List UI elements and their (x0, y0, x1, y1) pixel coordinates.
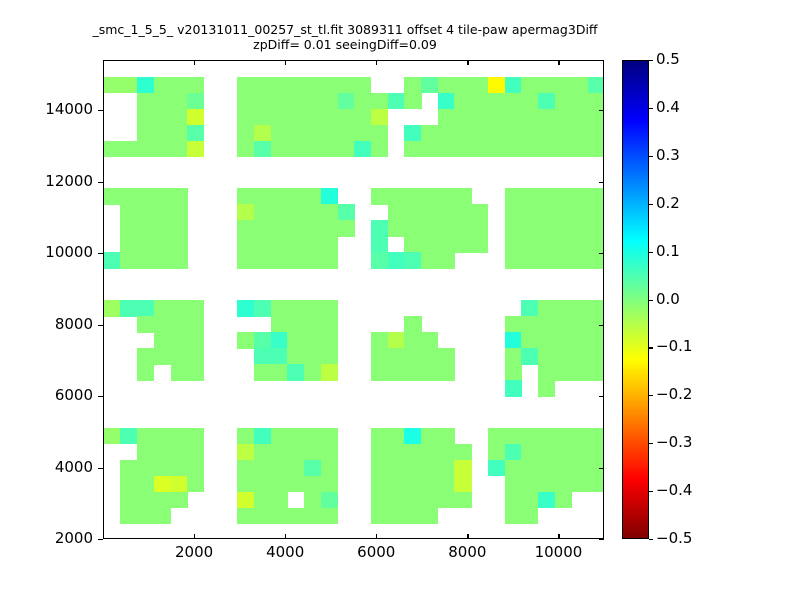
heatmap-cell (521, 428, 538, 445)
heatmap-cell (388, 204, 405, 221)
x-axis-tick (467, 534, 468, 539)
heatmap-cell (571, 428, 588, 445)
heatmap-cell (171, 220, 188, 237)
heatmap-cell (237, 444, 254, 461)
heatmap-cell (421, 428, 438, 445)
heatmap-cell (571, 93, 588, 110)
heatmap-cell (421, 188, 438, 205)
heatmap-cell (488, 93, 505, 110)
y-axis-tick (98, 182, 103, 183)
colorbar-tick (649, 156, 653, 157)
heatmap-cell (471, 93, 488, 110)
x-axis-tick-label: 6000 (357, 543, 395, 561)
heatmap-cell (237, 188, 254, 205)
heatmap-cell (338, 125, 355, 142)
heatmap-cell (438, 220, 455, 237)
heatmap-cell (171, 332, 188, 349)
heatmap-cell (287, 348, 304, 365)
heatmap-cell (154, 460, 171, 477)
heatmap-cell (488, 428, 505, 445)
heatmap-cell (321, 220, 338, 237)
heatmap-cell (588, 77, 604, 94)
heatmap-cell (555, 125, 572, 142)
heatmap-cell (254, 93, 271, 110)
heatmap-cell (254, 476, 271, 493)
heatmap-cell (154, 125, 171, 142)
heatmap-cell (588, 204, 604, 221)
heatmap-cell (120, 476, 137, 493)
heatmap-cell (421, 204, 438, 221)
heatmap-cell (505, 252, 522, 269)
colorbar-tick (649, 491, 653, 492)
heatmap-cell (404, 316, 421, 333)
heatmap-cell (371, 364, 388, 381)
heatmap-cell (421, 348, 438, 365)
heatmap-cell (354, 125, 371, 142)
heatmap-cell (505, 236, 522, 253)
heatmap-cell (154, 332, 171, 349)
heatmap-cell (571, 300, 588, 317)
heatmap-grid[interactable] (104, 61, 603, 538)
y-axis-tick-right (599, 182, 604, 183)
heatmap-cell (271, 236, 288, 253)
y-axis-tick (98, 468, 103, 469)
heatmap-cell (555, 109, 572, 126)
heatmap-cell (371, 220, 388, 237)
heatmap-cell (571, 109, 588, 126)
heatmap-cell (304, 141, 321, 158)
heatmap-cell (287, 125, 304, 142)
title-line-2: zpDiff= 0.01 seeingDiff=0.09 (0, 37, 690, 52)
plot-title: _smc_1_5_5_ v20131011_00257_st_tl.fit 30… (0, 22, 690, 52)
colorbar-tick (649, 395, 653, 396)
heatmap-cell (538, 332, 555, 349)
heatmap-cell (137, 188, 154, 205)
heatmap-cell (454, 125, 471, 142)
heatmap-cell (271, 508, 288, 525)
heatmap-cell (388, 444, 405, 461)
heatmap-cell (187, 125, 204, 142)
x-axis-tick-label: 10000 (535, 543, 583, 561)
heatmap-cell (187, 109, 204, 126)
heatmap-cell (538, 444, 555, 461)
heatmap-cell (371, 460, 388, 477)
x-axis-tick-label: 2000 (175, 543, 213, 561)
x-axis-tick-label: 8000 (448, 543, 486, 561)
heatmap-cell (137, 428, 154, 445)
heatmap-cell (237, 476, 254, 493)
heatmap-cell (555, 492, 572, 509)
x-axis-tick-top (558, 60, 559, 65)
colorbar[interactable] (622, 60, 649, 539)
heatmap-cell (271, 444, 288, 461)
heatmap-cell (521, 460, 538, 477)
heatmap-cell (338, 93, 355, 110)
heatmap-cell (371, 252, 388, 269)
heatmap-cell (287, 364, 304, 381)
heatmap-cell (571, 204, 588, 221)
y-axis-tick (98, 396, 103, 397)
heatmap-cell (354, 77, 371, 94)
heatmap-cell (271, 109, 288, 126)
heatmap-cell (321, 93, 338, 110)
heatmap-cell (454, 460, 471, 477)
heatmap-cell (354, 141, 371, 158)
heatmap-cell (304, 204, 321, 221)
heatmap-cell (538, 93, 555, 110)
heatmap-cell (371, 109, 388, 126)
heatmap-cell (287, 476, 304, 493)
heatmap-cell (488, 460, 505, 477)
heatmap-cell (171, 125, 188, 142)
x-axis-tick-top (376, 60, 377, 65)
heatmap-cell (505, 428, 522, 445)
heatmap-cell (321, 364, 338, 381)
heatmap-cell (505, 316, 522, 333)
heatmap-cell (287, 220, 304, 237)
heatmap-cell (521, 300, 538, 317)
heatmap-cell (254, 204, 271, 221)
heatmap-cell (388, 428, 405, 445)
heatmap-cell (371, 332, 388, 349)
y-axis-tick-right (599, 110, 604, 111)
heatmap-cell (505, 125, 522, 142)
heatmap-cell (271, 476, 288, 493)
heatmap-cell (438, 236, 455, 253)
heatmap-cell (588, 252, 604, 269)
heatmap-cell (287, 444, 304, 461)
heatmap-cell (505, 460, 522, 477)
heatmap-cell (454, 220, 471, 237)
heatmap-cell (171, 109, 188, 126)
heatmap-cell (421, 141, 438, 158)
heatmap-cell (171, 316, 188, 333)
heatmap-cell (304, 220, 321, 237)
heatmap-cell (404, 125, 421, 142)
heatmap-cell (555, 236, 572, 253)
colorbar-tick (649, 443, 653, 444)
heatmap-cell (371, 444, 388, 461)
heatmap-cell (171, 93, 188, 110)
heatmap-cell (137, 125, 154, 142)
heatmap-cell (287, 460, 304, 477)
heatmap-cell (304, 428, 321, 445)
heatmap-cell (254, 492, 271, 509)
colorbar-tick (649, 347, 653, 348)
heatmap-cell (254, 300, 271, 317)
heatmap-cell (120, 492, 137, 509)
heatmap-cell (154, 252, 171, 269)
heatmap-cell (237, 77, 254, 94)
heatmap-cell (321, 188, 338, 205)
colorbar-tick (649, 252, 653, 253)
heatmap-cell (104, 252, 121, 269)
heatmap-cell (404, 508, 421, 525)
heatmap-cell (438, 428, 455, 445)
heatmap-cell (287, 252, 304, 269)
x-axis-tick (558, 534, 559, 539)
heatmap-cell (588, 93, 604, 110)
heatmap-cell (321, 444, 338, 461)
heatmap-cell (287, 109, 304, 126)
heatmap-cell (338, 77, 355, 94)
heatmap-cell (571, 348, 588, 365)
heatmap-cell (154, 236, 171, 253)
x-axis-tick (376, 534, 377, 539)
heatmap-cell (538, 109, 555, 126)
heatmap-cell (254, 508, 271, 525)
heatmap-cell (321, 460, 338, 477)
heatmap-cell (588, 444, 604, 461)
heatmap-cell (588, 476, 604, 493)
colorbar-tick (649, 539, 653, 540)
heatmap-cell (287, 93, 304, 110)
heatmap-cell (137, 364, 154, 381)
heatmap-cell (438, 188, 455, 205)
heatmap-cell (237, 332, 254, 349)
heatmap-cell (555, 220, 572, 237)
heatmap-cell (521, 252, 538, 269)
heatmap-cell (488, 125, 505, 142)
heatmap-cell (388, 492, 405, 509)
heatmap-cell (304, 93, 321, 110)
heatmap-cell (454, 492, 471, 509)
heatmap-cell (454, 77, 471, 94)
heatmap-cell (388, 188, 405, 205)
heatmap-cell (120, 300, 137, 317)
heatmap-cell (237, 236, 254, 253)
heatmap-cell (555, 476, 572, 493)
heatmap-cell (237, 252, 254, 269)
heatmap-cell (421, 492, 438, 509)
heatmap-cell (287, 141, 304, 158)
heatmap-cell (237, 508, 254, 525)
y-axis-tick-right (599, 325, 604, 326)
heatmap-cell (321, 141, 338, 158)
heatmap-cell (404, 77, 421, 94)
heatmap-cell (471, 125, 488, 142)
heatmap-cell (287, 236, 304, 253)
heatmap-cell (287, 300, 304, 317)
heatmap-cell (304, 188, 321, 205)
heatmap-cell (371, 93, 388, 110)
heatmap-cell (505, 348, 522, 365)
heatmap-cell (120, 428, 137, 445)
heatmap-cell (421, 125, 438, 142)
heatmap-cell (371, 125, 388, 142)
heatmap-cell (404, 332, 421, 349)
y-axis-tick (98, 110, 103, 111)
heatmap-cell (254, 220, 271, 237)
heatmap-cell (454, 444, 471, 461)
heatmap-cell (538, 252, 555, 269)
heatmap-cell (538, 460, 555, 477)
heatmap-cell (521, 204, 538, 221)
heatmap-cell (254, 252, 271, 269)
heatmap-cell (538, 492, 555, 509)
heatmap-cell (137, 476, 154, 493)
plot-axes[interactable] (103, 60, 604, 539)
heatmap-cell (137, 492, 154, 509)
heatmap-cell (171, 252, 188, 269)
heatmap-cell (454, 93, 471, 110)
heatmap-cell (588, 188, 604, 205)
heatmap-cell (538, 77, 555, 94)
heatmap-cell (371, 141, 388, 158)
heatmap-cell (187, 460, 204, 477)
heatmap-cell (488, 141, 505, 158)
heatmap-cell (154, 492, 171, 509)
heatmap-cell (104, 300, 121, 317)
heatmap-cell (421, 476, 438, 493)
heatmap-cell (521, 492, 538, 509)
heatmap-cell (571, 125, 588, 142)
heatmap-cell (538, 316, 555, 333)
heatmap-cell (571, 460, 588, 477)
heatmap-cell (287, 316, 304, 333)
heatmap-cell (171, 204, 188, 221)
heatmap-cell (187, 364, 204, 381)
heatmap-cell (571, 220, 588, 237)
heatmap-cell (505, 77, 522, 94)
heatmap-cell (438, 125, 455, 142)
heatmap-cell (521, 125, 538, 142)
heatmap-cell (421, 364, 438, 381)
heatmap-cell (538, 348, 555, 365)
heatmap-cell (471, 77, 488, 94)
heatmap-cell (421, 444, 438, 461)
heatmap-cell (338, 220, 355, 237)
heatmap-cell (171, 364, 188, 381)
heatmap-cell (371, 188, 388, 205)
heatmap-cell (321, 316, 338, 333)
heatmap-cell (404, 460, 421, 477)
heatmap-cell (505, 109, 522, 126)
heatmap-cell (505, 141, 522, 158)
heatmap-cell (304, 492, 321, 509)
heatmap-cell (120, 236, 137, 253)
heatmap-cell (154, 316, 171, 333)
heatmap-cell (505, 508, 522, 525)
heatmap-cell (555, 444, 572, 461)
heatmap-cell (120, 220, 137, 237)
heatmap-cell (555, 348, 572, 365)
heatmap-cell (388, 476, 405, 493)
heatmap-cell (571, 332, 588, 349)
heatmap-cell (321, 77, 338, 94)
heatmap-cell (187, 476, 204, 493)
heatmap-cell (538, 380, 555, 397)
heatmap-cell (304, 476, 321, 493)
heatmap-cell (321, 348, 338, 365)
heatmap-cell (571, 476, 588, 493)
heatmap-cell (254, 348, 271, 365)
heatmap-cell (588, 428, 604, 445)
heatmap-cell (287, 332, 304, 349)
heatmap-cell (271, 364, 288, 381)
heatmap-cell (120, 188, 137, 205)
heatmap-cell (154, 444, 171, 461)
heatmap-cell (187, 93, 204, 110)
heatmap-cell (271, 492, 288, 509)
heatmap-cell (321, 204, 338, 221)
heatmap-cell (454, 141, 471, 158)
x-axis-tick-label: 4000 (266, 543, 304, 561)
heatmap-cell (438, 109, 455, 126)
heatmap-cell (471, 220, 488, 237)
heatmap-cell (521, 220, 538, 237)
heatmap-cell (521, 236, 538, 253)
heatmap-cell (438, 444, 455, 461)
heatmap-cell (588, 364, 604, 381)
y-axis-tick-right (599, 539, 604, 540)
heatmap-cell (538, 364, 555, 381)
heatmap-cell (505, 204, 522, 221)
heatmap-cell (588, 348, 604, 365)
heatmap-cell (571, 364, 588, 381)
heatmap-cell (371, 476, 388, 493)
heatmap-cell (388, 348, 405, 365)
heatmap-cell (371, 428, 388, 445)
heatmap-cell (371, 236, 388, 253)
heatmap-cell (488, 109, 505, 126)
heatmap-cell (521, 93, 538, 110)
heatmap-cell (521, 348, 538, 365)
heatmap-cell (171, 460, 188, 477)
heatmap-cell (321, 476, 338, 493)
colorbar-gradient (623, 61, 648, 538)
heatmap-cell (488, 444, 505, 461)
heatmap-cell (137, 141, 154, 158)
heatmap-cell (271, 125, 288, 142)
heatmap-cell (271, 93, 288, 110)
heatmap-cell (438, 252, 455, 269)
heatmap-cell (321, 508, 338, 525)
heatmap-cell (454, 236, 471, 253)
heatmap-cell (137, 316, 154, 333)
heatmap-cell (171, 492, 188, 509)
heatmap-cell (287, 188, 304, 205)
heatmap-cell (304, 348, 321, 365)
heatmap-cell (254, 332, 271, 349)
heatmap-cell (137, 300, 154, 317)
heatmap-cell (304, 236, 321, 253)
heatmap-cell (404, 252, 421, 269)
heatmap-cell (505, 93, 522, 110)
heatmap-cell (404, 476, 421, 493)
heatmap-cell (404, 236, 421, 253)
heatmap-cell (588, 141, 604, 158)
heatmap-cell (338, 141, 355, 158)
heatmap-cell (187, 444, 204, 461)
heatmap-cell (304, 109, 321, 126)
heatmap-cell (521, 109, 538, 126)
heatmap-cell (137, 444, 154, 461)
heatmap-cell (521, 316, 538, 333)
heatmap-cell (505, 444, 522, 461)
heatmap-cell (505, 492, 522, 509)
heatmap-cell (555, 428, 572, 445)
heatmap-cell (254, 236, 271, 253)
heatmap-cell (555, 188, 572, 205)
heatmap-cell (388, 364, 405, 381)
heatmap-cell (187, 428, 204, 445)
heatmap-cell (571, 316, 588, 333)
heatmap-cell (404, 188, 421, 205)
heatmap-cell (438, 476, 455, 493)
heatmap-cell (287, 77, 304, 94)
y-axis-tick (98, 539, 103, 540)
